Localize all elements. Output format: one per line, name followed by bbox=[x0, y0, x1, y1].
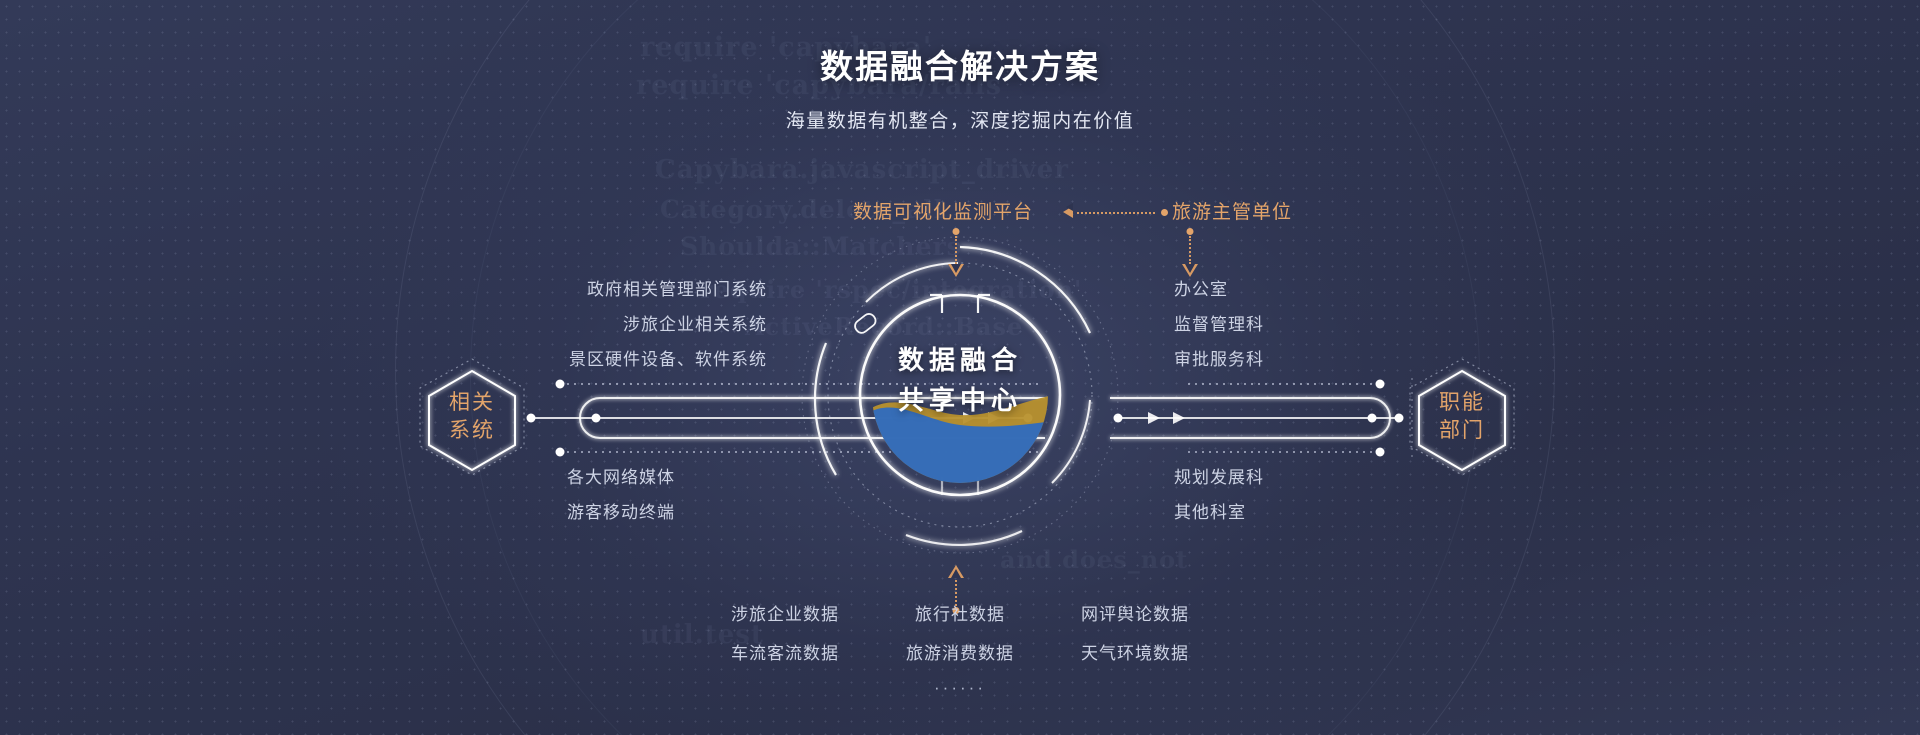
infographic-canvas: require 'capybara' require 'capybara/rai… bbox=[0, 0, 1920, 735]
list-item: 天气环境数据 bbox=[1050, 639, 1220, 664]
hexagon-right-line1: 职能 bbox=[1439, 389, 1485, 417]
list-item: 车流客流数据 bbox=[700, 639, 870, 664]
list-item: 办公室 bbox=[1174, 272, 1394, 307]
arrow-down-inner bbox=[951, 264, 961, 273]
dotted-line bbox=[1077, 212, 1155, 214]
arrow-up-inner bbox=[951, 569, 961, 578]
list-item: 规划发展科 bbox=[1174, 460, 1394, 495]
arrow-dotted-line bbox=[955, 236, 957, 264]
page-title: 数据融合解决方案 bbox=[0, 40, 1920, 88]
bottom-row: 车流客流数据 旅游消费数据 天气环境数据 bbox=[700, 639, 1220, 664]
page-subtitle: 海量数据有机整合，深度挖掘内在价值 bbox=[0, 106, 1920, 133]
top-connector-arrow bbox=[1063, 206, 1168, 220]
left-bottom-list: 各大网络媒体 游客移动终端 bbox=[567, 460, 767, 530]
hexagon-left-label: 相关 系统 bbox=[410, 355, 534, 479]
arrow-dotted-line bbox=[1189, 236, 1191, 264]
label-tourism-authority[interactable]: 旅游主管单位 bbox=[1172, 197, 1292, 224]
list-item: 游客移动终端 bbox=[567, 495, 767, 530]
connector-dot bbox=[1161, 209, 1168, 216]
code-watermark-2: Capybara.javascript_driver bbox=[655, 155, 1069, 185]
list-item: 旅行社数据 bbox=[875, 600, 1045, 625]
list-item: 各大网络媒体 bbox=[567, 460, 767, 495]
list-item: 景区硬件设备、软件系统 bbox=[567, 342, 767, 377]
arrow-dot bbox=[953, 228, 960, 235]
bottom-ellipsis: ······ bbox=[700, 678, 1220, 698]
hexagon-left-line2: 系统 bbox=[449, 417, 495, 445]
hexagon-right-label: 职能 部门 bbox=[1400, 355, 1524, 479]
list-item: 涉旅企业相关系统 bbox=[567, 307, 767, 342]
arrow-dot bbox=[1187, 228, 1194, 235]
hexagon-right-line2: 部门 bbox=[1439, 417, 1485, 445]
bottom-data-sources: 涉旅企业数据 旅行社数据 网评舆论数据 车流客流数据 旅游消费数据 天气环境数据… bbox=[700, 600, 1220, 698]
list-item: 旅游消费数据 bbox=[875, 639, 1045, 664]
list-item: 监督管理科 bbox=[1174, 307, 1394, 342]
hexagon-functional-departments[interactable]: 职能 部门 bbox=[1400, 355, 1524, 479]
center-line-1: 数据融合 bbox=[790, 340, 1130, 380]
bottom-row: 涉旅企业数据 旅行社数据 网评舆论数据 bbox=[700, 600, 1220, 625]
hexagon-related-systems[interactable]: 相关 系统 bbox=[410, 355, 534, 479]
hexagon-left-line1: 相关 bbox=[449, 389, 495, 417]
center-hub-label: 数据融合 共享中心 bbox=[790, 340, 1130, 420]
center-line-2: 共享中心 bbox=[790, 380, 1130, 420]
label-visualization-platform[interactable]: 数据可视化监测平台 bbox=[853, 197, 1033, 224]
arrow-left-inner bbox=[1066, 203, 1073, 211]
right-bottom-list: 规划发展科 其他科室 bbox=[1174, 460, 1394, 530]
header: 数据融合解决方案 海量数据有机整合，深度挖掘内在价值 bbox=[0, 40, 1920, 133]
list-item: 涉旅企业数据 bbox=[700, 600, 870, 625]
list-item: 审批服务科 bbox=[1174, 342, 1394, 377]
list-item: 其他科室 bbox=[1174, 495, 1394, 530]
list-item: 网评舆论数据 bbox=[1050, 600, 1220, 625]
right-top-list: 办公室 监督管理科 审批服务科 bbox=[1174, 272, 1394, 377]
down-arrow-platform bbox=[946, 228, 966, 280]
list-item: 政府相关管理部门系统 bbox=[567, 272, 767, 307]
left-top-list: 政府相关管理部门系统 涉旅企业相关系统 景区硬件设备、软件系统 bbox=[567, 272, 767, 377]
